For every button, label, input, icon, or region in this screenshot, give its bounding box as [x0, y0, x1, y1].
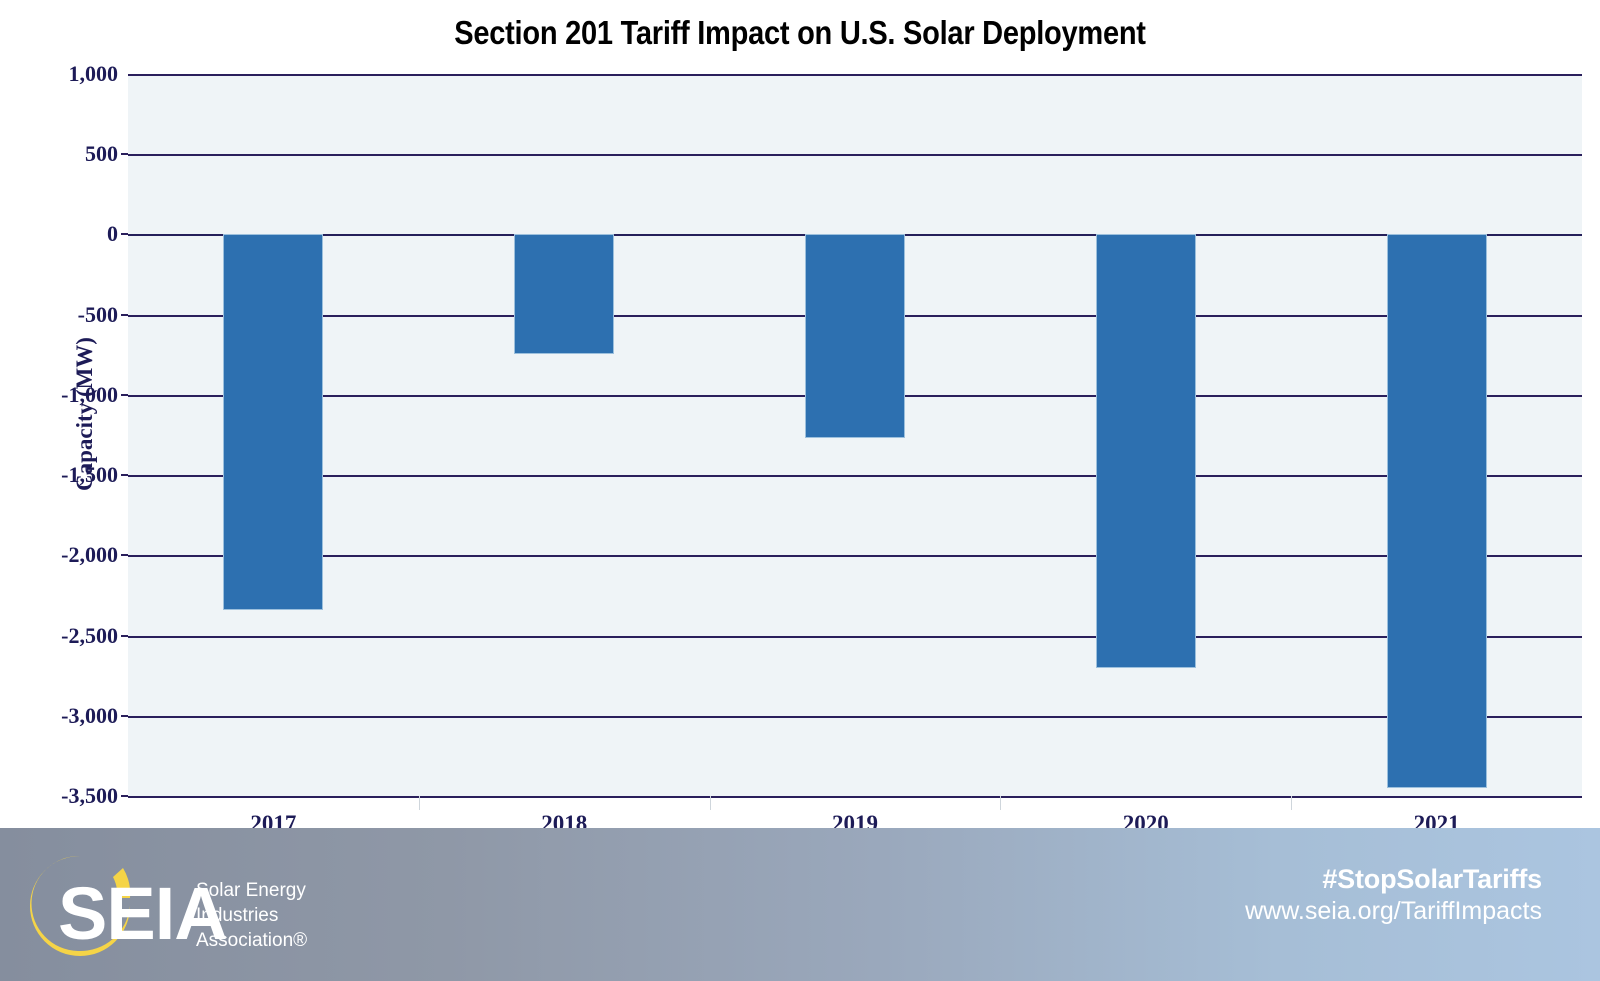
- plot-area: [128, 74, 1582, 796]
- y-axis-tick-label: -1,000: [22, 382, 118, 408]
- chart-title: Section 201 Tariff Impact on U.S. Solar …: [96, 14, 1504, 52]
- y-axis-tick-label: -2,000: [22, 542, 118, 568]
- gridline: [128, 555, 1582, 557]
- gridline: [128, 154, 1582, 156]
- y-axis-tick-label: -3,000: [22, 703, 118, 729]
- y-axis-tick-label: 1,000: [22, 61, 118, 87]
- y-axis-tick-label: -2,500: [22, 623, 118, 649]
- footer-text-block: #StopSolarTariffs www.seia.org/TariffImp…: [1245, 864, 1542, 929]
- y-axis-tick-label: -500: [22, 302, 118, 328]
- gridline: [128, 475, 1582, 477]
- logo-line-1: Solar Energy: [196, 880, 306, 901]
- gridline: [128, 636, 1582, 638]
- bar-2019[interactable]: [805, 234, 905, 438]
- x-axis-separator: [1291, 796, 1292, 810]
- y-axis-tick-label: -3,500: [22, 783, 118, 809]
- gridline: [128, 716, 1582, 718]
- x-axis-separator: [419, 796, 420, 810]
- seia-footer-banner: SEIA Solar Energy Industries Association…: [0, 828, 1600, 981]
- bar-2017[interactable]: [223, 234, 323, 609]
- bar-2020[interactable]: [1096, 234, 1196, 667]
- logo-line-2: Industries: [196, 905, 278, 926]
- x-axis-separator: [710, 796, 711, 810]
- bar-2021[interactable]: [1387, 234, 1487, 788]
- gridline: [128, 74, 1582, 76]
- x-axis-separator: [1000, 796, 1001, 810]
- chart-container: Section 201 Tariff Impact on U.S. Solar …: [0, 0, 1600, 828]
- bar-2018[interactable]: [514, 234, 614, 354]
- y-axis-tick-label: 500: [22, 141, 118, 167]
- y-axis-tick-label: -1,500: [22, 462, 118, 488]
- footer-url[interactable]: www.seia.org/TariffImpacts: [1245, 895, 1542, 929]
- hashtag-text: #StopSolarTariffs: [1245, 864, 1542, 895]
- seia-logo: SEIA Solar Energy Industries Association…: [20, 846, 350, 966]
- y-axis-tick-label: 0: [22, 221, 118, 247]
- logo-line-3: Association®: [196, 930, 307, 951]
